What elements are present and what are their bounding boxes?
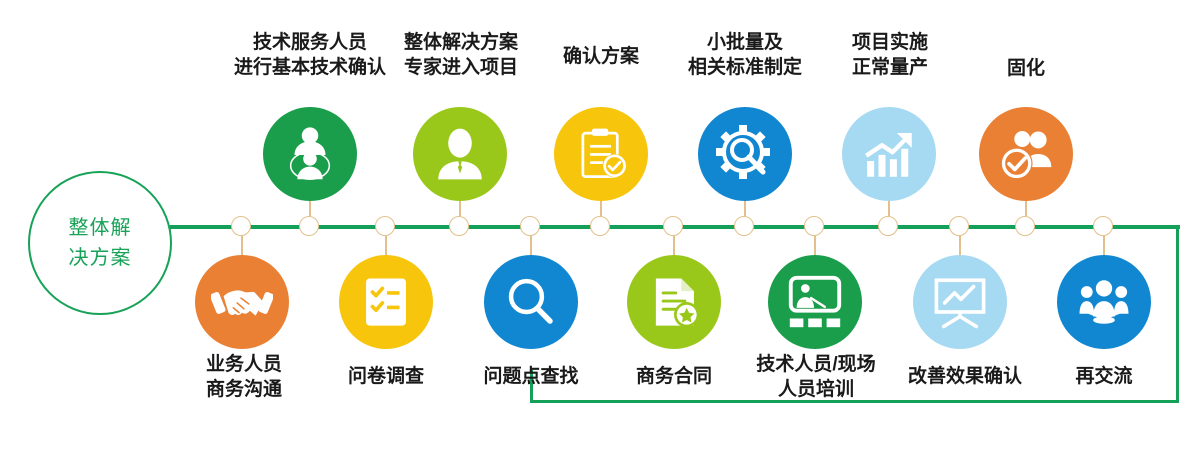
timeline-node[interactable] [299, 212, 321, 242]
timeline-node[interactable] [375, 212, 397, 242]
step-label-small-batch: 小批量及 相关标准制定 [665, 30, 825, 80]
step-icon-contract-star[interactable] [627, 255, 721, 349]
step-label-problem-finding: 问题点查找 [461, 364, 601, 389]
step-icon-presentation-chart[interactable] [913, 255, 1007, 349]
timeline-node-dot [1015, 216, 1035, 236]
step-icon-clipboard-check[interactable] [554, 107, 648, 201]
timeline-node-dot [375, 216, 395, 236]
step-label-questionnaire: 问卷调查 [326, 364, 446, 389]
timeline-node-dot [663, 216, 683, 236]
process-flow-diagram: 整体解 决方案 技术服务人员 进行基本技术确认 整体解决方案 专家进 [0, 0, 1200, 465]
start-node-label: 整体解 决方案 [69, 213, 132, 273]
step-icon-gear-search[interactable] [698, 107, 792, 201]
step-label-tech-confirm: 技术服务人员 进行基本技术确认 [220, 30, 400, 80]
timeline-node-dot [449, 216, 469, 236]
step-icon-handshake[interactable] [195, 255, 289, 349]
timeline-node[interactable] [663, 212, 685, 242]
step-icon-growth-chart[interactable] [842, 107, 936, 201]
timeline-node[interactable] [734, 212, 756, 242]
timeline-node[interactable] [1093, 212, 1115, 242]
step-icon-team-group[interactable] [1057, 255, 1151, 349]
step-label-improvement-confirm: 改善效果确认 [890, 364, 1040, 389]
step-icon-training-board[interactable] [768, 255, 862, 349]
step-label-confirm-plan: 确认方案 [531, 44, 671, 69]
step-label-technician-training: 技术人员/现场 人员培训 [737, 352, 895, 402]
timeline-node[interactable] [878, 212, 900, 242]
step-label-solidify: 固化 [966, 56, 1086, 81]
step-label-project-mass-production: 项目实施 正常量产 [820, 30, 960, 80]
timeline-node-dot [804, 216, 824, 236]
timeline-node[interactable] [804, 212, 826, 242]
timeline-node[interactable] [1015, 212, 1037, 242]
start-node-overall-solution[interactable]: 整体解 决方案 [28, 171, 172, 315]
step-icon-person-avatar[interactable] [413, 107, 507, 201]
step-label-expert-join: 整体解决方案 专家进入项目 [380, 30, 542, 80]
step-label-re-communication: 再交流 [1044, 364, 1164, 389]
step-icon-two-people[interactable] [263, 107, 357, 201]
timeline-node-dot [299, 216, 319, 236]
timeline-node-dot [590, 216, 610, 236]
timeline-node-dot [520, 216, 540, 236]
timeline-node[interactable] [231, 212, 253, 242]
timeline-node-dot [1093, 216, 1113, 236]
step-icon-checklist[interactable] [339, 255, 433, 349]
timeline-node-dot [878, 216, 898, 236]
step-label-business-contract: 商务合同 [614, 364, 734, 389]
step-icon-magnifier[interactable] [484, 255, 578, 349]
step-label-business-communication: 业务人员 商务沟通 [170, 352, 318, 402]
timeline-node[interactable] [520, 212, 542, 242]
timeline-node-dot [734, 216, 754, 236]
step-icon-group-check[interactable] [979, 107, 1073, 201]
timeline-node[interactable] [949, 212, 971, 242]
feedback-loop-right-segment [1176, 225, 1179, 403]
timeline-node[interactable] [590, 212, 612, 242]
timeline-node-dot [231, 216, 251, 236]
timeline-node-dot [949, 216, 969, 236]
timeline-node[interactable] [449, 212, 471, 242]
